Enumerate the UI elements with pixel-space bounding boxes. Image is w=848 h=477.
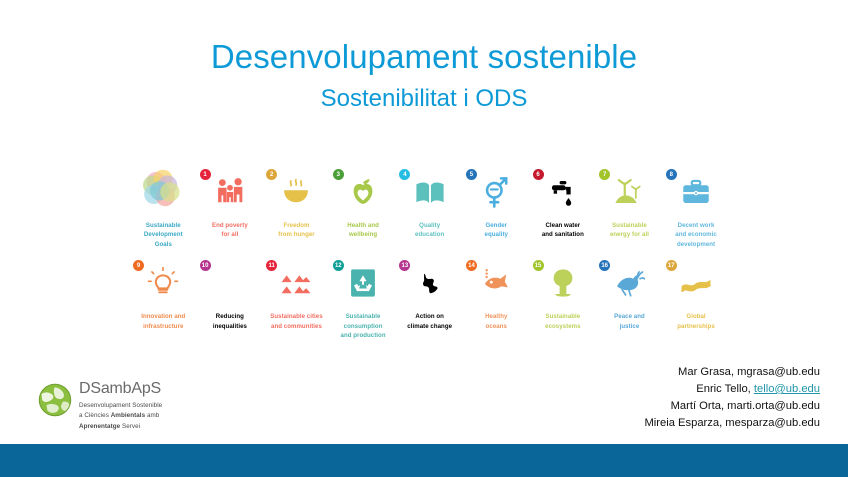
open-book-icon: 4 <box>396 166 463 218</box>
sdg-goal-label: Sustainableecosystems <box>531 312 595 331</box>
recycle-icon: 12 <box>330 257 397 309</box>
sdg-goal-number-badge: 6 <box>533 169 544 180</box>
contact-line: Enric Tello, tello@ub.edu <box>644 381 820 398</box>
sdg-goal-2[interactable]: 2Freedomfrom hunger <box>263 166 330 249</box>
contact-name: Mar Grasa, <box>678 366 737 378</box>
page-title: Desenvolupament sostenible <box>0 38 848 76</box>
sdg-goals-wheel: SustainableDevelopmentGoals <box>130 166 197 249</box>
contact-name: Mireia Esparza, <box>644 417 725 429</box>
sdg-goal-number-badge: 9 <box>133 260 144 271</box>
sdg-goal-number-badge: 4 <box>399 169 410 180</box>
sdg-goal-number-badge: 3 <box>333 169 344 180</box>
fish-icon: 14 <box>463 257 530 309</box>
briefcase-icon: 8 <box>663 166 730 218</box>
bowl-steam-icon: 2 <box>263 166 330 218</box>
sdg-goal-number-badge: 7 <box>599 169 610 180</box>
sdg-goal-number-badge: 5 <box>466 169 477 180</box>
contact-line: Mireia Esparza, mesparza@ub.edu <box>644 415 820 432</box>
sdg-goal-number-badge: 8 <box>666 169 677 180</box>
sdg-goal-label: Clean waterand sanitation <box>531 221 595 240</box>
water-tap-icon: 6 <box>530 166 597 218</box>
contact-email-link[interactable]: tello@ub.edu <box>754 383 820 395</box>
sdg-wheel-label: SustainableDevelopmentGoals <box>131 221 195 249</box>
sdg-goal-label: Sustainableenergy for all <box>597 221 661 240</box>
green-globe-icon <box>38 383 72 417</box>
mountains-houses-icon: 11 <box>263 257 330 309</box>
logo-tagline-line-1: Desenvolupament Sostenible <box>79 401 162 412</box>
sdg-goal-label: Innovation andinfrastructure <box>131 312 195 331</box>
page-subtitle: Sostenibilitat i ODS <box>0 85 848 113</box>
sdg-goal-1[interactable]: 1End povertyfor all <box>197 166 264 249</box>
footer-bar <box>0 444 848 477</box>
sdg-goal-number-badge: 11 <box>266 260 277 271</box>
sdg-wheel-icon <box>130 166 197 218</box>
dsambaps-logo: DSambApS Desenvolupament Sostenible a Ci… <box>38 381 162 433</box>
sdg-goal-8[interactable]: 8Decent workand economicdevelopment <box>663 166 730 249</box>
contact-line: Mar Grasa, mgrasa@ub.edu <box>644 364 820 381</box>
logo-name: DSambApS <box>79 381 162 398</box>
contact-name: Enric Tello, <box>696 383 754 395</box>
sdg-goal-label: Reducinginequalities <box>198 312 262 331</box>
sdg-goal-13[interactable]: 13Action onclimate change <box>396 257 463 340</box>
sdg-goal-number-badge: 17 <box>666 260 677 271</box>
sdg-goal-label: Decent workand economicdevelopment <box>664 221 728 249</box>
sdg-goal-number-badge: 10 <box>200 260 211 271</box>
sdg-goal-label: End povertyfor all <box>198 221 262 240</box>
logo-tagline-line-2: a Ciències Ambientals amb <box>79 411 162 422</box>
sdg-row-1: SustainableDevelopmentGoals1End povertyf… <box>130 166 730 249</box>
sdg-goal-15[interactable]: 15Sustainableecosystems <box>530 257 597 340</box>
sdg-goal-number-badge: 15 <box>533 260 544 271</box>
wind-turbine-icon: 7 <box>596 166 663 218</box>
sdg-goal-label: Sustainableconsumptionand production <box>331 312 395 340</box>
sdg-goal-label: Globalpartnerships <box>664 312 728 331</box>
sdg-goal-3[interactable]: 3Health andwellbeing <box>330 166 397 249</box>
sdg-row-2: 9Innovation andinfrastructure10Reducingi… <box>130 257 730 340</box>
apple-heart-icon: 3 <box>330 166 397 218</box>
sdg-goal-label: Genderequality <box>464 221 528 240</box>
sdg-goal-label: Freedomfrom hunger <box>264 221 328 240</box>
sdg-goal-label: Qualityeducation <box>398 221 462 240</box>
sdg-goal-number-badge: 2 <box>266 169 277 180</box>
title-block: Desenvolupament sostenible Sostenibilita… <box>0 0 848 113</box>
sdg-goal-number-badge: 14 <box>466 260 477 271</box>
sdg-goal-11[interactable]: 11Sustainable citiesand communities <box>263 257 330 340</box>
sdg-goal-label: Action onclimate change <box>398 312 462 331</box>
sdg-goal-10[interactable]: 10Reducinginequalities <box>197 257 264 340</box>
sliders-icon: 10 <box>197 257 264 309</box>
sdg-goal-label: Health andwellbeing <box>331 221 395 240</box>
sdg-goal-label: Healthyoceans <box>464 312 528 331</box>
sdg-goal-16[interactable]: 16Peace andjustice <box>596 257 663 340</box>
contact-list: Mar Grasa, mgrasa@ub.eduEnric Tello, tel… <box>644 364 820 432</box>
gender-symbol-icon: 5 <box>463 166 530 218</box>
sdg-goal-14[interactable]: 14Healthyoceans <box>463 257 530 340</box>
dove-olive-branch-icon: 16 <box>596 257 663 309</box>
family-icon: 1 <box>197 166 264 218</box>
handshake-ribbon-icon: 17 <box>663 257 730 309</box>
contact-name: Martí Orta, <box>671 400 728 412</box>
lightbulb-icon: 9 <box>130 257 197 309</box>
sdg-goal-4[interactable]: 4Qualityeducation <box>396 166 463 249</box>
sdg-goal-6[interactable]: 6Clean waterand sanitation <box>530 166 597 249</box>
globe-icon: 13 <box>396 257 463 309</box>
sdg-goal-number-badge: 16 <box>599 260 610 271</box>
sdg-goal-label: Peace andjustice <box>597 312 661 331</box>
contact-email: marti.orta@ub.edu <box>727 400 820 412</box>
tree-icon: 15 <box>530 257 597 309</box>
sdg-goal-label: Sustainable citiesand communities <box>264 312 328 331</box>
sdg-goal-5[interactable]: 5Genderequality <box>463 166 530 249</box>
sdg-goal-7[interactable]: 7Sustainableenergy for all <box>596 166 663 249</box>
sdg-goal-9[interactable]: 9Innovation andinfrastructure <box>130 257 197 340</box>
sdg-goal-number-badge: 12 <box>333 260 344 271</box>
logo-tagline-line-3: Aprenentatge Servei <box>79 422 162 433</box>
logo-tagline: Desenvolupament Sostenible a Ciències Am… <box>79 401 162 433</box>
contact-line: Martí Orta, marti.orta@ub.edu <box>644 398 820 415</box>
sdg-goal-12[interactable]: 12Sustainableconsumptionand production <box>330 257 397 340</box>
contact-email: mesparza@ub.edu <box>725 417 820 429</box>
sdg-goal-number-badge: 13 <box>399 260 410 271</box>
sdg-icon-grid: SustainableDevelopmentGoals1End povertyf… <box>130 166 730 341</box>
sdg-goal-17[interactable]: 17Globalpartnerships <box>663 257 730 340</box>
contact-email: mgrasa@ub.edu <box>737 366 820 378</box>
sdg-goal-number-badge: 1 <box>200 169 211 180</box>
